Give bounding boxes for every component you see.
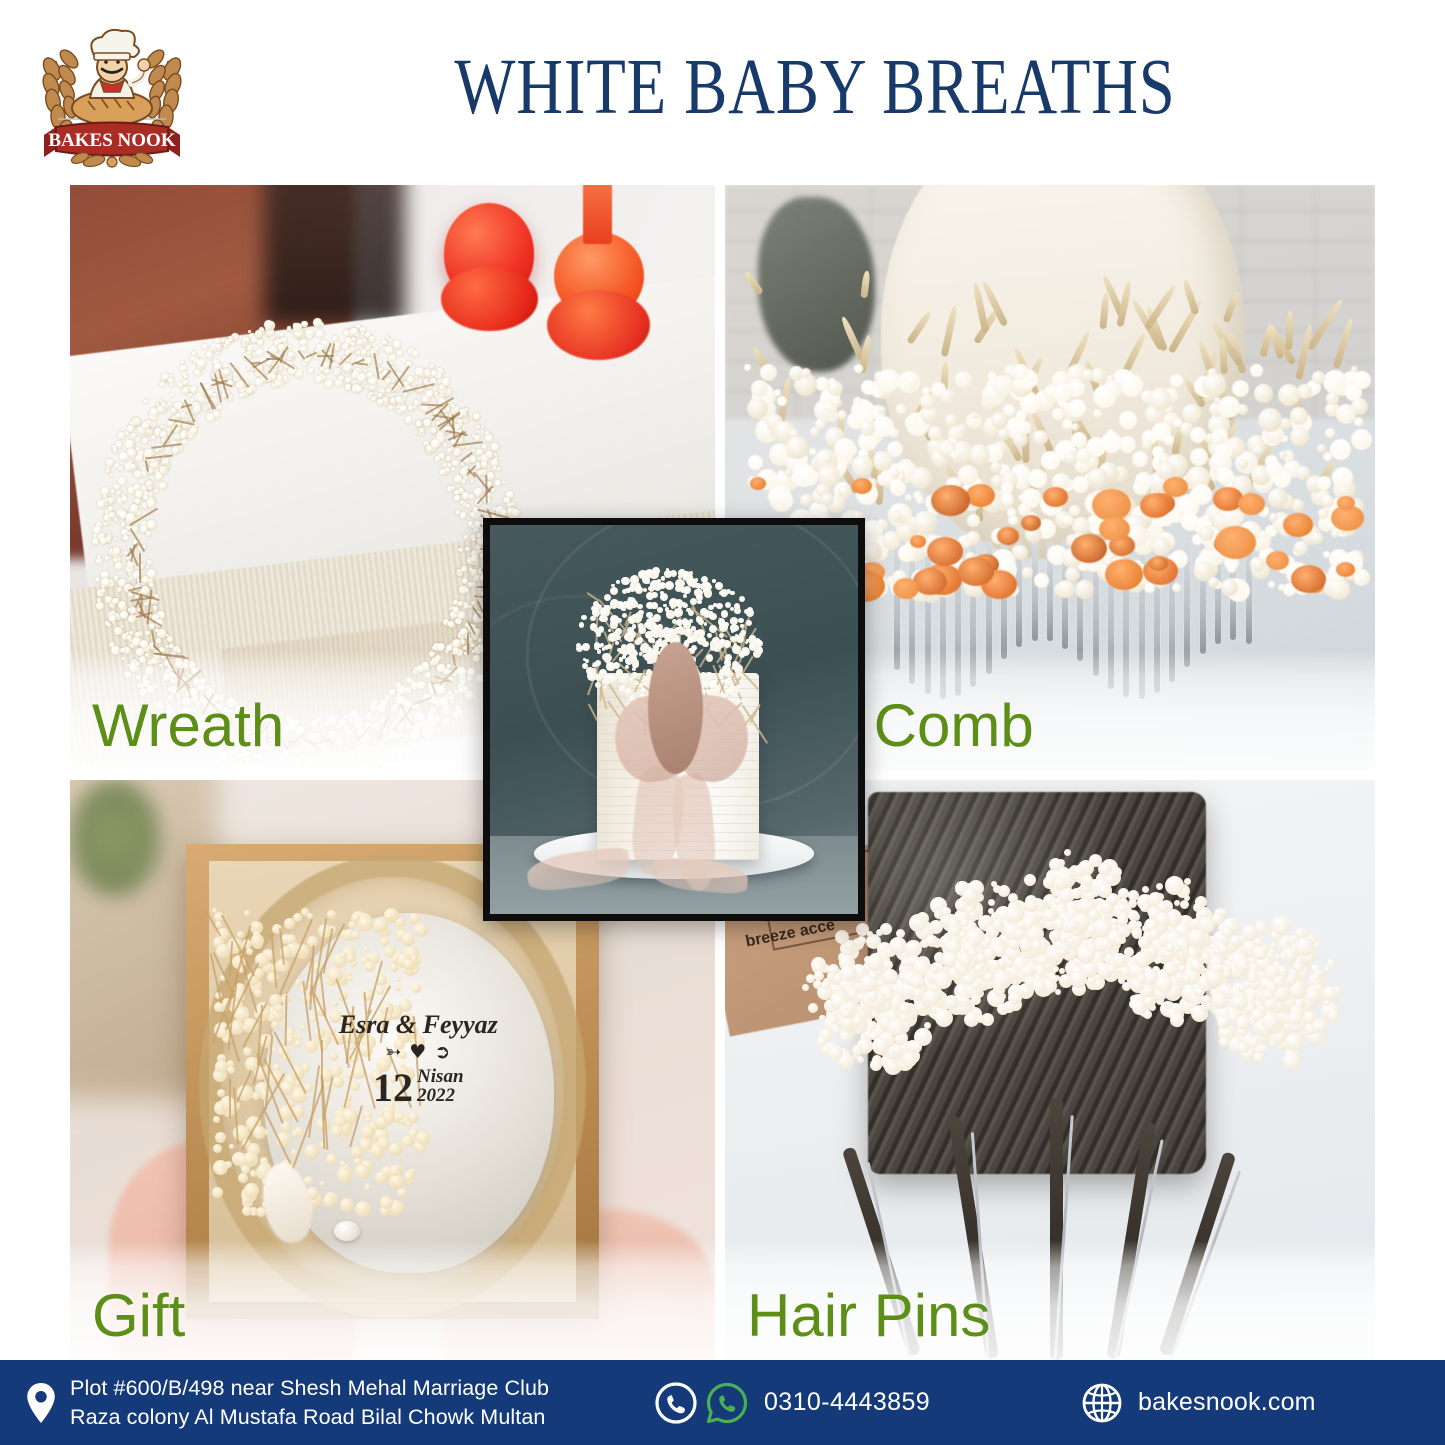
panel-caption-gift: Gift xyxy=(92,1281,185,1350)
gift-engraving: Esra & Feyyaz ➳ ♥ ➲ 12 Nisan 2022 xyxy=(283,1012,554,1106)
footer-address-block: Plot #600/B/498 near Shesh Mehal Marriag… xyxy=(0,1374,640,1431)
cake-photo xyxy=(490,525,858,914)
baker-chef-wheat-crest-logo: BAKES NOOK xyxy=(22,25,202,180)
phone-circle-icon[interactable] xyxy=(654,1381,698,1425)
engraved-arrows: ➳ ♥ ➲ xyxy=(283,1038,554,1067)
engraved-year: 2022 xyxy=(417,1085,455,1106)
engraved-day: 12 xyxy=(373,1070,413,1106)
footer-address-text: Plot #600/B/498 near Shesh Mehal Marriag… xyxy=(70,1374,549,1431)
footer-phone-block[interactable]: 0310-4443859 xyxy=(640,1380,1080,1426)
engraved-date: 12 Nisan 2022 xyxy=(283,1067,554,1107)
poster-header: BAKES NOOK WHITE BABY BREATHS xyxy=(0,0,1445,185)
whatsapp-icon[interactable] xyxy=(704,1380,750,1426)
location-pin-icon xyxy=(26,1383,56,1423)
contact-footer: Plot #600/B/498 near Shesh Mehal Marriag… xyxy=(0,1360,1445,1445)
logo-wordmark: BAKES NOOK xyxy=(48,130,175,151)
address-line-1: Plot #600/B/498 near Shesh Mehal Marriag… xyxy=(70,1374,549,1402)
footer-website-block[interactable]: bakesnook.com xyxy=(1080,1381,1316,1425)
globe-icon[interactable] xyxy=(1080,1381,1124,1425)
footer-website-url[interactable]: bakesnook.com xyxy=(1138,1388,1316,1417)
engraved-month: Nisan xyxy=(417,1066,463,1087)
panel-caption-hair-pins: Hair Pins xyxy=(747,1281,990,1350)
engraved-names: Esra & Feyyaz xyxy=(283,1012,554,1038)
address-line-2: Raza colony Al Mustafa Road Bilal Chowk … xyxy=(70,1403,549,1431)
engraved-month-year: Nisan 2022 xyxy=(417,1067,463,1107)
center-cake-image[interactable] xyxy=(483,518,865,921)
promotional-poster: BAKES NOOK WHITE BABY BREATHS xyxy=(0,0,1445,1445)
panel-caption-wreath: Wreath xyxy=(92,691,284,760)
footer-phone-number[interactable]: 0310-4443859 xyxy=(764,1388,930,1417)
bakes-nook-logo: BAKES NOOK xyxy=(22,25,202,180)
page-title: WHITE BABY BREATHS xyxy=(323,48,1307,127)
